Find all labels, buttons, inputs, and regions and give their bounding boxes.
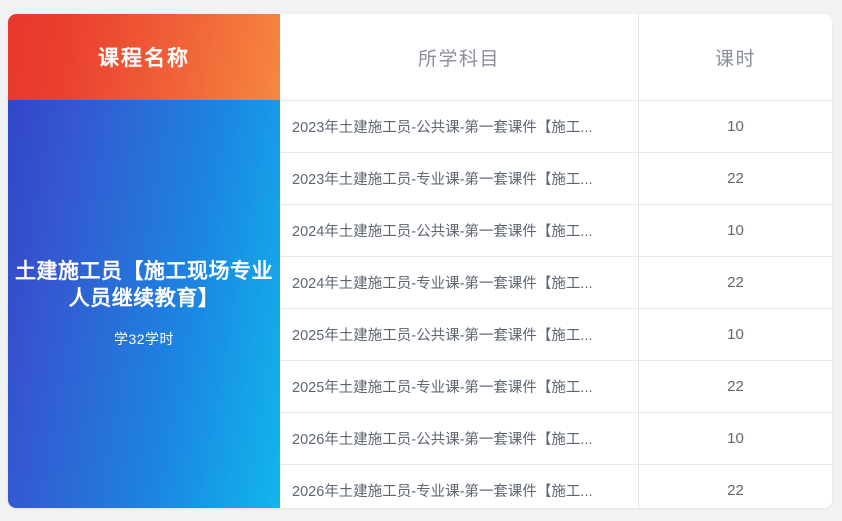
cell-subject: 2024年土建施工员-公共课-第一套课件【施工... [280,205,638,256]
table-row[interactable]: 2023年土建施工员-专业课-第一套课件【施工... 22 [280,152,832,204]
cell-subject: 2023年土建施工员-公共课-第一套课件【施工... [280,101,638,152]
cell-subject: 2023年土建施工员-专业课-第一套课件【施工... [280,153,638,204]
course-name-column-header-label: 课程名称 [98,42,190,72]
course-hours-subtitle: 学32学时 [114,329,174,349]
table-row[interactable]: 2024年土建施工员-公共课-第一套课件【施工... 10 [280,204,832,256]
cell-hours: 10 [638,413,832,464]
course-detail-card: 课程名称 土建施工员【施工现场专业人员继续教育】 学32学时 所学科目 课时 2… [8,14,832,508]
cell-subject: 2026年土建施工员-专业课-第一套课件【施工... [280,465,638,508]
cell-hours: 22 [638,361,832,412]
table-row[interactable]: 2025年土建施工员-专业课-第一套课件【施工... 22 [280,360,832,412]
cell-subject: 2026年土建施工员-公共课-第一套课件【施工... [280,413,638,464]
cell-subject: 2025年土建施工员-公共课-第一套课件【施工... [280,309,638,360]
course-summary-panel: 课程名称 土建施工员【施工现场专业人员继续教育】 学32学时 [8,14,280,508]
column-header-hours: 课时 [638,14,832,100]
cell-hours: 22 [638,465,832,508]
table-row[interactable]: 2026年土建施工员-专业课-第一套课件【施工... 22 [280,464,832,508]
cell-subject: 2025年土建施工员-专业课-第一套课件【施工... [280,361,638,412]
table-row[interactable]: 2024年土建施工员-专业课-第一套课件【施工... 22 [280,256,832,308]
cell-hours: 10 [638,309,832,360]
course-name-column-header: 课程名称 [8,14,280,100]
table-row[interactable]: 2023年土建施工员-公共课-第一套课件【施工... 10 [280,100,832,152]
cell-hours: 10 [638,205,832,256]
table-row[interactable]: 2026年土建施工员-公共课-第一套课件【施工... 10 [280,412,832,464]
table-header-row: 所学科目 课时 [280,14,832,100]
column-header-subject: 所学科目 [280,14,638,100]
course-title: 土建施工员【施工现场专业人员继续教育】 [14,259,274,313]
course-name-cell: 土建施工员【施工现场专业人员继续教育】 学32学时 [8,100,280,508]
table-row[interactable]: 2025年土建施工员-公共课-第一套课件【施工... 10 [280,308,832,360]
subject-table: 所学科目 课时 2023年土建施工员-公共课-第一套课件【施工... 10 20… [280,14,832,508]
cell-hours: 22 [638,257,832,308]
cell-hours: 10 [638,101,832,152]
cell-hours: 22 [638,153,832,204]
cell-subject: 2024年土建施工员-专业课-第一套课件【施工... [280,257,638,308]
page-background: 课程名称 土建施工员【施工现场专业人员继续教育】 学32学时 所学科目 课时 2… [0,0,842,521]
